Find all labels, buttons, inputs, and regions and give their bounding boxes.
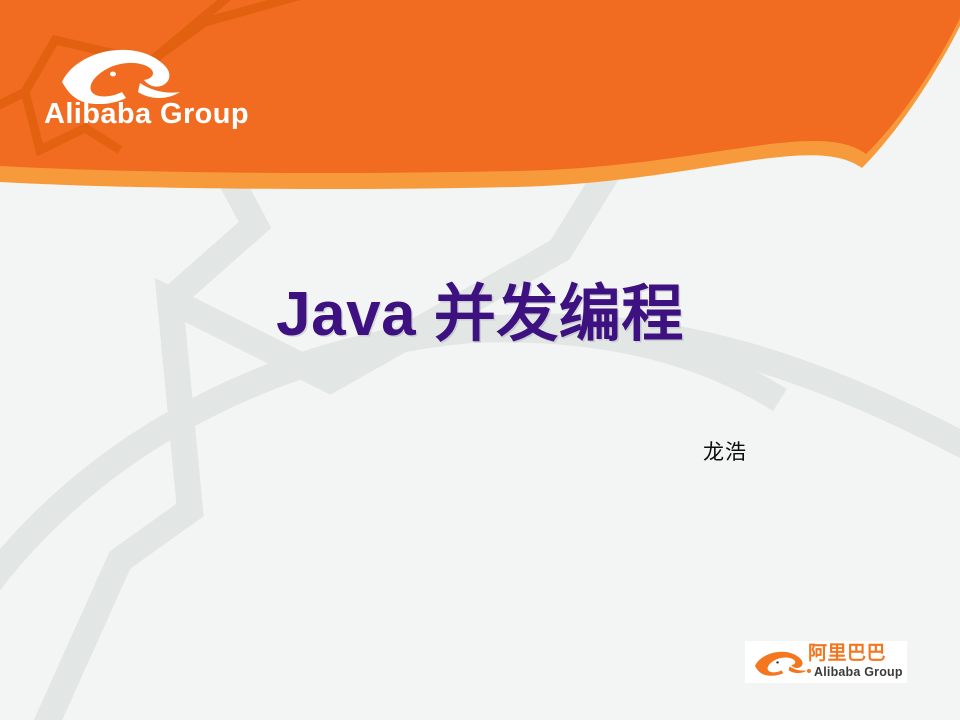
footer-logo-dot [807,669,811,673]
footer-logo-text-cn: 阿里巴巴 [808,643,886,665]
footer-logo-text-en: Alibaba Group [814,665,903,679]
alibaba-smile-icon [44,42,184,104]
header-logo-wordmark: Alibaba Group [44,100,344,129]
author-block: 龙浩 [560,438,890,478]
header-logo: Alibaba Group [44,42,344,142]
footer-logo: 阿里巴巴 Alibaba Group [745,641,907,683]
alibaba-smile-icon [747,643,809,681]
presentation-slide: Alibaba Group Java 并发编程 龙浩 阿里巴巴 Alibaba … [0,0,960,720]
author-name: 龙浩 [703,440,747,464]
